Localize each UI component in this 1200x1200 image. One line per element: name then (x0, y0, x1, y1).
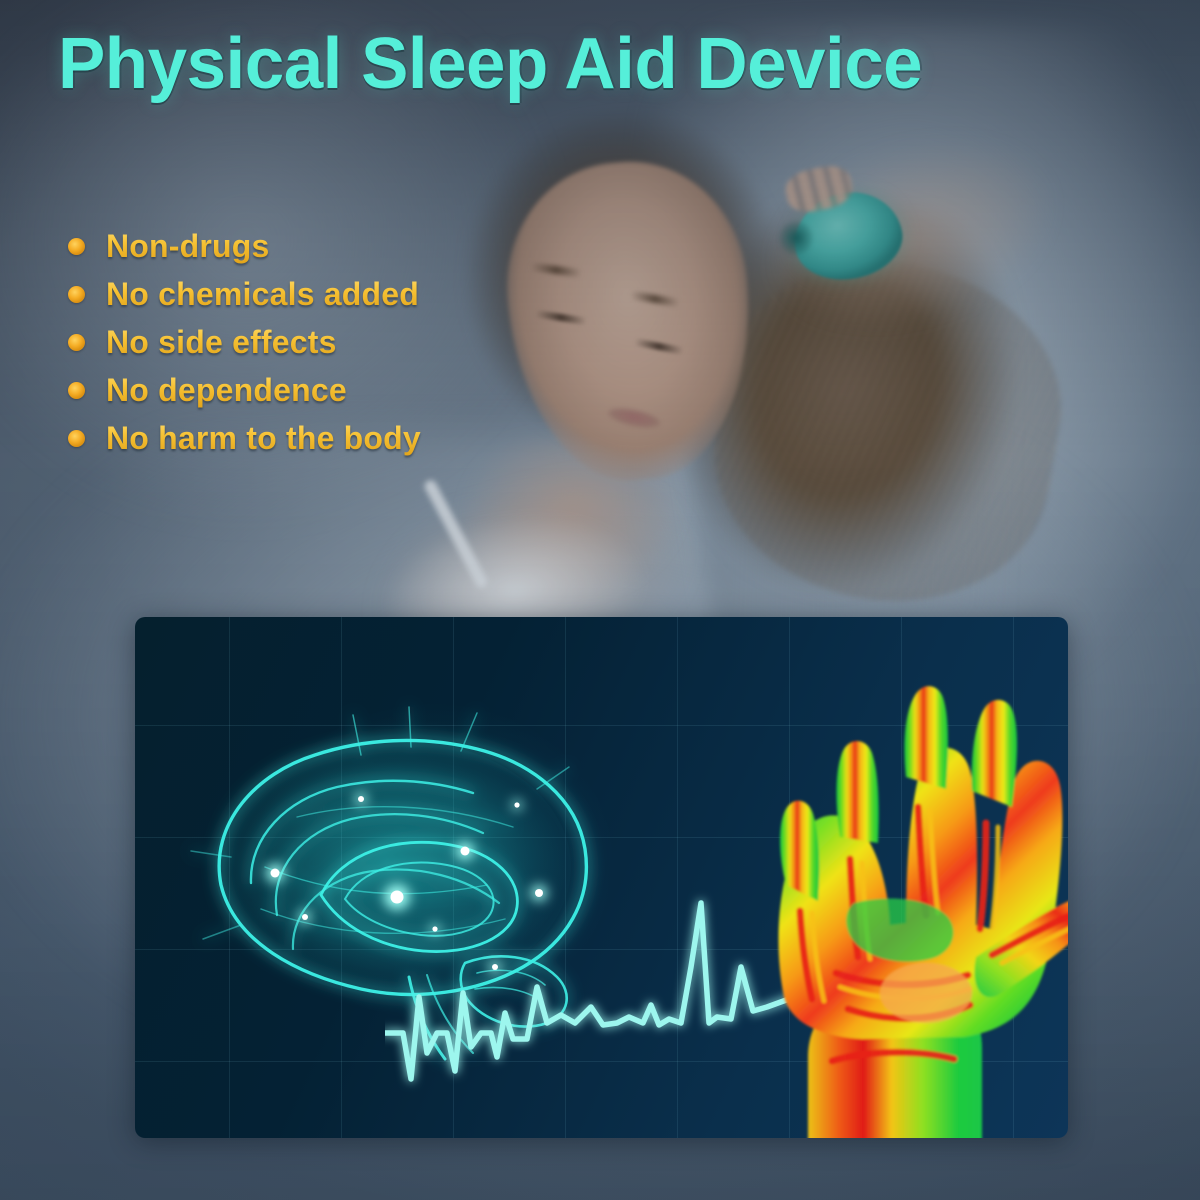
benefits-list: Non-drugs No chemicals added No side eff… (62, 222, 582, 462)
list-item: Non-drugs (62, 222, 582, 270)
benefit-label: No harm to the body (106, 420, 421, 457)
bullet-dot-icon (68, 286, 85, 303)
bullet-dot-icon (68, 430, 85, 447)
page-title: Physical Sleep Aid Device (58, 26, 1043, 102)
list-item: No chemicals added (62, 270, 582, 318)
benefit-label: No chemicals added (106, 276, 419, 313)
thermal-hand-icon (730, 657, 1068, 1138)
benefit-label: No dependence (106, 372, 347, 409)
bullet-dot-icon (68, 382, 85, 399)
list-item: No harm to the body (62, 414, 582, 462)
bullet-dot-icon (68, 334, 85, 351)
bullet-dot-icon (68, 238, 85, 255)
list-item: No side effects (62, 318, 582, 366)
tech-illustration-panel (135, 617, 1068, 1138)
list-item: No dependence (62, 366, 582, 414)
poster-root: Physical Sleep Aid Device Non-drugs No c… (0, 0, 1200, 1200)
benefit-label: No side effects (106, 324, 337, 361)
benefit-label: Non-drugs (106, 228, 270, 265)
